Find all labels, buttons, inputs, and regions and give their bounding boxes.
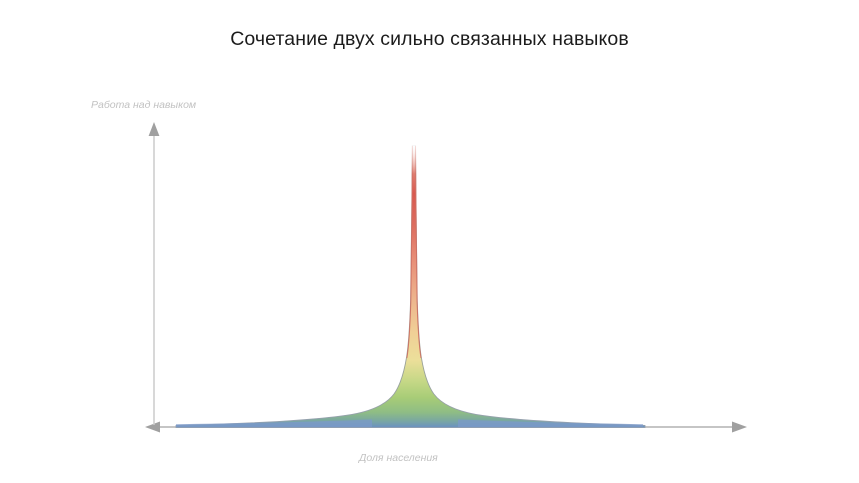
y-axis-up-arrow-icon — [149, 122, 160, 136]
distribution-plot — [0, 0, 859, 483]
baseline-band-right — [458, 419, 643, 427]
x-axis-right-arrow-icon — [732, 422, 747, 433]
x-axis-left-arrow-icon — [145, 422, 160, 433]
spike-tip-fade — [404, 138, 426, 174]
chart-canvas: Сочетание двух сильно связанных навыков … — [0, 0, 859, 483]
